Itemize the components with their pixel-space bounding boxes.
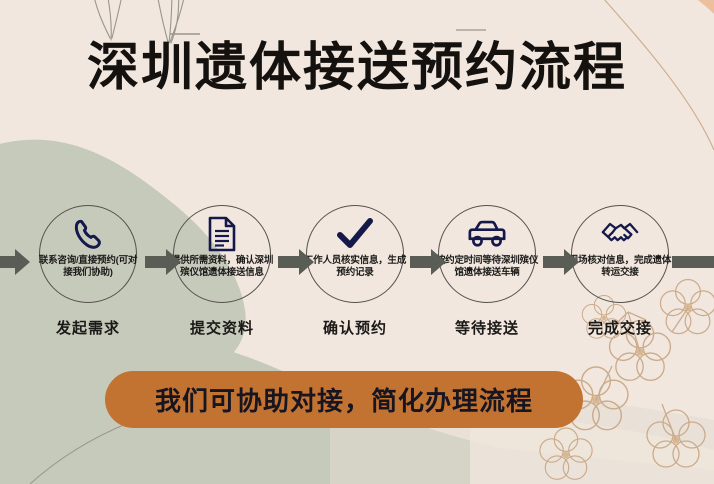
bottom-banner[interactable]: 我们可协助对接，简化办理流程	[105, 371, 583, 428]
step-desc-5: 现场核对信息，完成遗体转运交接	[568, 255, 672, 279]
flow-step-1[interactable]: 联系咨询/直接预约(可对接我们协助) 发起需求	[34, 205, 142, 350]
flow-arrow-2	[278, 249, 314, 275]
flow-arrow-5	[672, 249, 714, 275]
step-label-1: 发起需求	[56, 317, 120, 338]
step-label-4: 等待接送	[455, 317, 519, 338]
page-title: 深圳遗体接送预约流程	[0, 42, 714, 97]
poster-canvas: 深圳遗体接送预约流程 联系咨询/直接预约(可对接我们协助) 发起需求	[0, 0, 714, 484]
step-circle-3: 工作人员核实信息，生成预约记录	[306, 205, 404, 303]
step-circle-4: 按约定时间等待深圳殡仪馆遗体接送车辆	[438, 205, 536, 303]
step-desc-4: 按约定时间等待深圳殡仪馆遗体接送车辆	[435, 255, 539, 279]
flow-arrow-4	[543, 249, 579, 275]
step-desc-2: 提供所需资料，确认深圳殡仪馆遗体接送信息	[170, 255, 274, 279]
checkmark-icon	[335, 215, 375, 253]
step-desc-3: 工作人员核实信息，生成预约记录	[303, 255, 407, 279]
step-label-2: 提交资料	[190, 317, 254, 338]
step-circle-5: 现场核对信息，完成遗体转运交接	[571, 205, 669, 303]
step-desc-1: 联系咨询/直接预约(可对接我们协助)	[36, 255, 140, 279]
handshake-icon	[600, 215, 640, 253]
process-flow: 联系咨询/直接预约(可对接我们协助) 发起需求	[0, 205, 714, 350]
flow-step-3[interactable]: 工作人员核实信息，生成预约记录 确认预约	[301, 205, 409, 350]
phone-icon	[68, 215, 108, 253]
flow-step-5[interactable]: 现场核对信息，完成遗体转运交接 完成交接	[566, 205, 674, 350]
flow-step-4[interactable]: 按约定时间等待深圳殡仪馆遗体接送车辆 等待接送	[433, 205, 541, 350]
step-label-5: 完成交接	[588, 317, 652, 338]
flow-arrow-3	[410, 249, 446, 275]
flow-step-2[interactable]: 提供所需资料，确认深圳殡仪馆遗体接送信息 提交资料	[168, 205, 276, 350]
step-label-3: 确认预约	[323, 317, 387, 338]
document-icon	[202, 215, 242, 253]
flow-arrow-0	[0, 249, 30, 275]
step-circle-1: 联系咨询/直接预约(可对接我们协助)	[39, 205, 137, 303]
step-circle-2: 提供所需资料，确认深圳殡仪馆遗体接送信息	[173, 205, 271, 303]
banner-text: 我们可协助对接，简化办理流程	[155, 381, 533, 418]
car-icon	[467, 215, 507, 253]
flow-arrow-1	[145, 249, 181, 275]
